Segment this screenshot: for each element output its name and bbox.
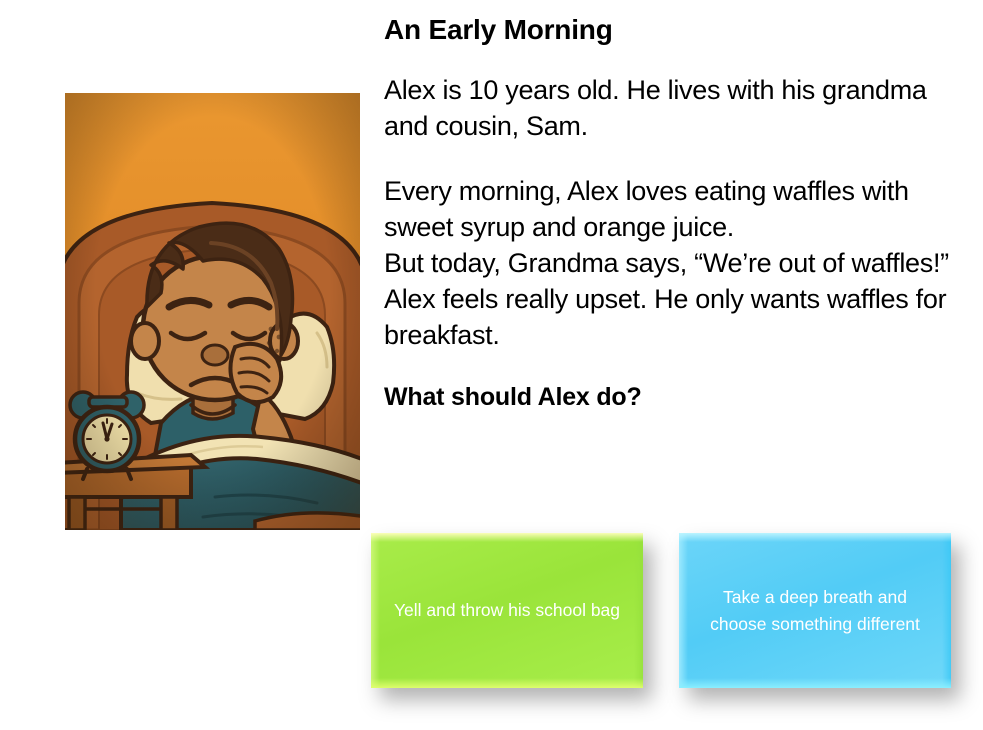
- choice-button-yell-label: Yell and throw his school bag: [393, 597, 621, 623]
- boy-waking-up-in-bed-illustration: [65, 93, 360, 530]
- question-heading: What should Alex do?: [384, 383, 964, 412]
- choice-button-yell[interactable]: Yell and throw his school bag: [371, 533, 643, 688]
- story-paragraph-2-line-3: Alex feels really upset. He only wants w…: [384, 281, 964, 353]
- page-title: An Early Morning: [384, 14, 964, 46]
- answer-choices: Yell and throw his school bag Take a dee…: [371, 533, 971, 703]
- illustration-svg: [65, 93, 360, 530]
- slide-canvas: An Early Morning Alex is 10 years old. H…: [0, 0, 983, 730]
- story-paragraph-1: Alex is 10 years old. He lives with his …: [384, 72, 964, 144]
- story-text-column: An Early Morning Alex is 10 years old. H…: [384, 14, 964, 412]
- choice-button-deep-breath[interactable]: Take a deep breath and choose something …: [679, 533, 951, 688]
- choice-button-deep-breath-label: Take a deep breath and choose something …: [701, 584, 929, 637]
- story-paragraph-2-line-2: But today, Grandma says, “We’re out of w…: [384, 245, 964, 281]
- story-paragraph-2-line-1: Every morning, Alex loves eating waffles…: [384, 173, 964, 245]
